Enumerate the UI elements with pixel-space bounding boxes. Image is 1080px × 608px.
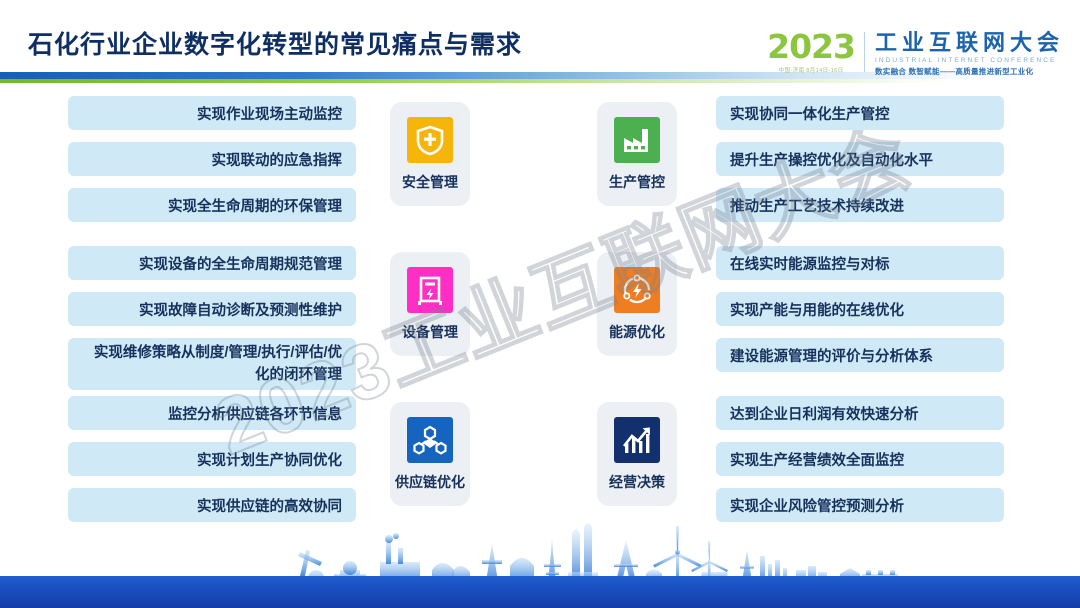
equipment-cabinet-icon xyxy=(407,267,453,313)
pill-item[interactable]: 实现计划生产协同优化 xyxy=(68,442,356,476)
energy-bolt-icon xyxy=(614,267,660,313)
slide-canvas: 石化行业企业数字化转型的常见痛点与需求 2023 中国·济南 8月14日-16日… xyxy=(0,0,1080,608)
logo-date: 中国·济南 8月14日-16日 xyxy=(779,66,844,74)
pill-item[interactable]: 监控分析供应链各环节信息 xyxy=(68,396,356,430)
logo-name-en: INDUSTRIAL INTERNET CONFERENCE xyxy=(875,57,1064,64)
right-pill-column: 达到企业日利润有效快速分析 实现生产经营绩效全面监控 实现企业风险管控预测分析 xyxy=(716,396,1004,534)
pill-item[interactable]: 实现联动的应急指挥 xyxy=(68,142,356,176)
category-card-supply-chain[interactable]: 供应链优化 xyxy=(390,402,470,506)
card-label: 生产管控 xyxy=(609,172,665,192)
left-pill-column: 实现作业现场主动监控 实现联动的应急指挥 实现全生命周期的环保管理 xyxy=(68,96,356,234)
category-card-energy[interactable]: 能源优化 xyxy=(597,252,677,356)
logo-slogan: 数实融合 数智赋能——高质量推进新型工业化 xyxy=(875,66,1064,77)
pill-item[interactable]: 实现设备的全生命周期规范管理 xyxy=(68,246,356,280)
content-row: 实现作业现场主动监控 实现联动的应急指挥 实现全生命周期的环保管理 安全管理 xyxy=(0,96,1080,246)
pill-item[interactable]: 实现作业现场主动监控 xyxy=(68,96,356,130)
card-label: 经营决策 xyxy=(609,472,665,492)
card-label: 安全管理 xyxy=(402,172,458,192)
content-row: 实现设备的全生命周期规范管理 实现故障自动诊断及预测性维护 实现维修策略从制度/… xyxy=(0,246,1080,396)
category-card-equipment[interactable]: 设备管理 xyxy=(390,252,470,356)
category-card-safety[interactable]: 安全管理 xyxy=(390,102,470,206)
page-title: 石化行业企业数字化转型的常见痛点与需求 xyxy=(28,25,522,61)
right-pill-column: 实现协同一体化生产管控 提升生产操控优化及自动化水平 推动生产工艺技术持续改进 xyxy=(716,96,1004,234)
pill-item[interactable]: 在线实时能源监控与对标 xyxy=(716,246,1004,280)
right-pill-column: 在线实时能源监控与对标 实现产能与用能的在线优化 建设能源管理的评价与分析体系 xyxy=(716,246,1004,384)
pill-item[interactable]: 实现全生命周期的环保管理 xyxy=(68,188,356,222)
shield-plus-icon xyxy=(407,117,453,163)
card-label: 设备管理 xyxy=(402,322,458,342)
category-card-decision[interactable]: 经营决策 xyxy=(597,402,677,506)
pill-item[interactable]: 实现生产经营绩效全面监控 xyxy=(716,442,1004,476)
pill-item[interactable]: 推动生产工艺技术持续改进 xyxy=(716,188,1004,222)
pill-item[interactable]: 实现企业风险管控预测分析 xyxy=(716,488,1004,522)
content-grid: 实现作业现场主动监控 实现联动的应急指挥 实现全生命周期的环保管理 安全管理 xyxy=(0,96,1080,546)
pill-item[interactable]: 建设能源管理的评价与分析体系 xyxy=(716,338,1004,372)
logo-text-block: 工业互联网大会 INDUSTRIAL INTERNET CONFERENCE 数… xyxy=(865,30,1064,77)
growth-chart-icon xyxy=(614,417,660,463)
card-label: 供应链优化 xyxy=(395,472,465,492)
category-card-production[interactable]: 生产管控 xyxy=(597,102,677,206)
footer-band xyxy=(0,576,1080,608)
content-row: 监控分析供应链各环节信息 实现计划生产协同优化 实现供应链的高效协同 供应链优化 xyxy=(0,396,1080,546)
pill-item[interactable]: 提升生产操控优化及自动化水平 xyxy=(716,142,1004,176)
card-label: 能源优化 xyxy=(609,322,665,342)
pill-item[interactable]: 实现协同一体化生产管控 xyxy=(716,96,1004,130)
factory-icon xyxy=(614,117,660,163)
left-pill-column: 监控分析供应链各环节信息 实现计划生产协同优化 实现供应链的高效协同 xyxy=(68,396,356,534)
logo-year-block: 2023 中国·济南 8月14日-16日 xyxy=(767,30,864,74)
logo-name-cn: 工业互联网大会 xyxy=(875,30,1064,55)
pill-item[interactable]: 实现供应链的高效协同 xyxy=(68,488,356,522)
left-pill-column: 实现设备的全生命周期规范管理 实现故障自动诊断及预测性维护 实现维修策略从制度/… xyxy=(68,246,356,402)
pill-item[interactable]: 实现维修策略从制度/管理/执行/评估/优化的闭环管理 xyxy=(68,338,356,390)
slide-header: 石化行业企业数字化转型的常见痛点与需求 2023 中国·济南 8月14日-16日… xyxy=(0,0,1080,92)
supply-network-icon xyxy=(407,417,453,463)
pill-item[interactable]: 实现故障自动诊断及预测性维护 xyxy=(68,292,356,326)
pill-item[interactable]: 实现产能与用能的在线优化 xyxy=(716,292,1004,326)
pill-item[interactable]: 达到企业日利润有效快速分析 xyxy=(716,396,1004,430)
logo-year: 2023 xyxy=(767,30,855,64)
conference-logo: 2023 中国·济南 8月14日-16日 工业互联网大会 INDUSTRIAL … xyxy=(767,30,1064,82)
